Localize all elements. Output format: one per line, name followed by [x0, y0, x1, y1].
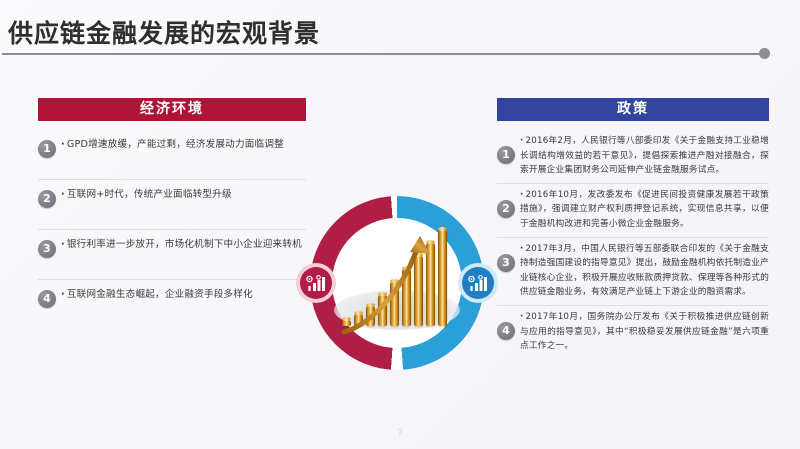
rising-arrow-icon [330, 214, 464, 352]
item-number-badge: 1 [38, 140, 56, 158]
slide-canvas: 供应链金融发展的宏观背景 经济环境 1 GPD增速放缓，产能过剩，经济发展动力面… [0, 0, 800, 449]
golden-bar-chart-illustration [330, 214, 464, 352]
growth-chart-gear-icon-red [300, 267, 332, 299]
panel-left-header: 经济环境 [38, 98, 306, 121]
item-number-badge: 4 [497, 322, 515, 340]
item-text: 2017年10月，国务院办公厅发布《关于积极推进供应链创新与应用的指导意见》，其… [520, 310, 769, 354]
item-number-badge: 4 [38, 290, 56, 308]
item-text: 2016年2月，人民银行等八部委印发《关于金融支持工业稳增长调结构增效益的若干意… [520, 134, 769, 178]
panel-left-items: 1 GPD增速放缓，产能过剩，经济发展动力面临调整 2 互联网+时代，传统产业面… [38, 130, 306, 329]
item-number-badge: 1 [497, 146, 515, 164]
list-item: 4 2017年10月，国务院办公厅发布《关于积极推进供应链创新与应用的指导意见》… [497, 305, 769, 359]
item-text: 2017年3月，中国人民银行等五部委联合印发的《关于金融支持制造强国建设的指导意… [520, 242, 769, 300]
list-item: 3 2017年3月，中国人民银行等五部委联合印发的《关于金融支持制造强国建设的指… [497, 237, 769, 305]
list-item: 1 GPD增速放缓，产能过剩，经济发展动力面临调整 [38, 130, 306, 179]
list-item: 4 互联网金融生态崛起，企业融资手段多样化 [38, 279, 306, 329]
item-number-badge: 3 [38, 240, 56, 258]
list-item: 3 银行利率进一步放开，市场化机制下中小企业迎来转机 [38, 229, 306, 279]
item-text: 互联网+时代，传统产业面临转型升级 [61, 184, 306, 203]
panel-economic-environment: 经济环境 1 GPD增速放缓，产能过剩，经济发展动力面临调整 2 互联网+时代，… [38, 98, 306, 329]
item-number-badge: 3 [497, 254, 515, 272]
item-text: 2016年10月，发改委发布《促进民间投资健康发展若干政策措施》，强调建立财产权… [520, 188, 769, 232]
item-number-badge: 2 [497, 200, 515, 218]
page-title: 供应链金融发展的宏观背景 [8, 14, 320, 50]
item-number-badge: 2 [38, 190, 56, 208]
panel-right-items: 1 2016年2月，人民银行等八部委印发《关于金融支持工业稳增长调结构增效益的若… [497, 130, 769, 359]
list-item: 2 互联网+时代，传统产业面临转型升级 [38, 179, 306, 229]
list-item: 2 2016年10月，发改委发布《促进民间投资健康发展若干政策措施》，强调建立财… [497, 183, 769, 237]
item-text: 互联网金融生态崛起，企业融资手段多样化 [61, 284, 306, 303]
title-divider [2, 53, 767, 55]
page-number: 7 [0, 428, 800, 437]
list-item: 1 2016年2月，人民银行等八部委印发《关于金融支持工业稳增长调结构增效益的若… [497, 130, 769, 183]
panel-policy: 政策 1 2016年2月，人民银行等八部委印发《关于金融支持工业稳增长调结构增效… [497, 98, 769, 359]
badge-right-wrapper [458, 263, 498, 303]
growth-chart-gear-icon-blue [462, 267, 494, 299]
item-text: GPD增速放缓，产能过剩，经济发展动力面临调整 [61, 134, 306, 153]
panel-right-header: 政策 [497, 98, 769, 121]
badge-left-wrapper [296, 263, 336, 303]
item-text: 银行利率进一步放开，市场化机制下中小企业迎来转机 [61, 234, 306, 253]
title-divider-knob [759, 48, 770, 59]
center-graphic [310, 196, 484, 370]
